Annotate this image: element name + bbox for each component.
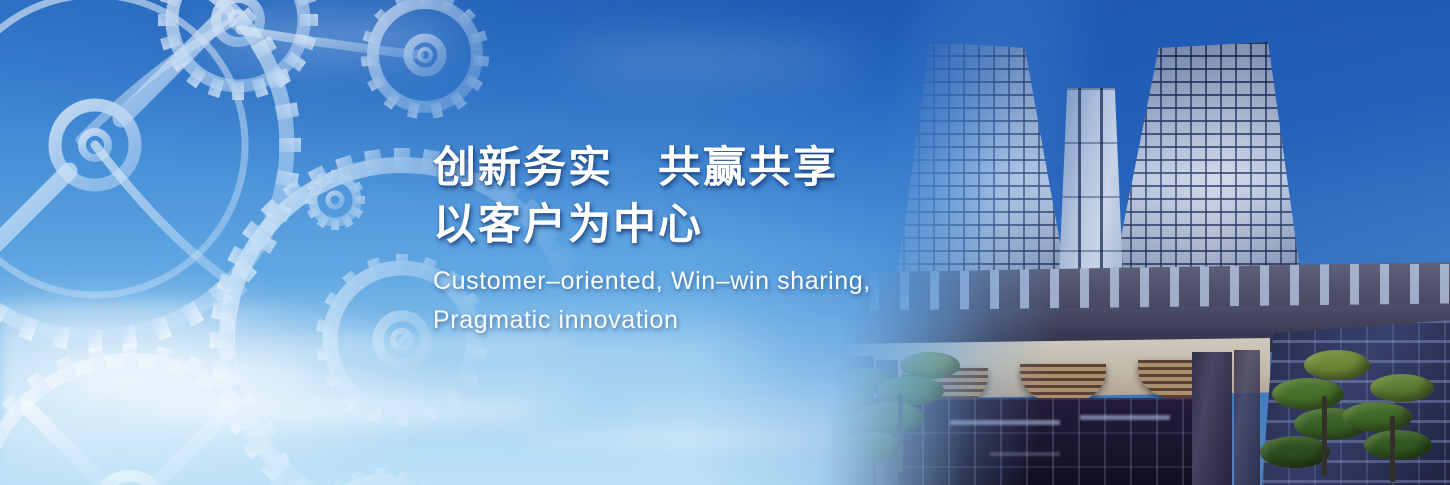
subhead-en-line1: Customer–oriented, Win–win sharing, [433, 262, 993, 301]
banner-copy: 创新务实 共赢共享 以客户为中心 Customer–oriented, Win–… [433, 140, 993, 340]
subhead-en: Customer–oriented, Win–win sharing, Prag… [433, 262, 993, 340]
subhead-en-line2: Pragmatic innovation [433, 301, 993, 340]
headline-cn-line1: 创新务实 共赢共享 [433, 140, 993, 197]
corporate-banner: 创新务实 共赢共享 以客户为中心 Customer–oriented, Win–… [0, 0, 1450, 485]
headline-cn-line2: 以客户为中心 [433, 197, 993, 254]
